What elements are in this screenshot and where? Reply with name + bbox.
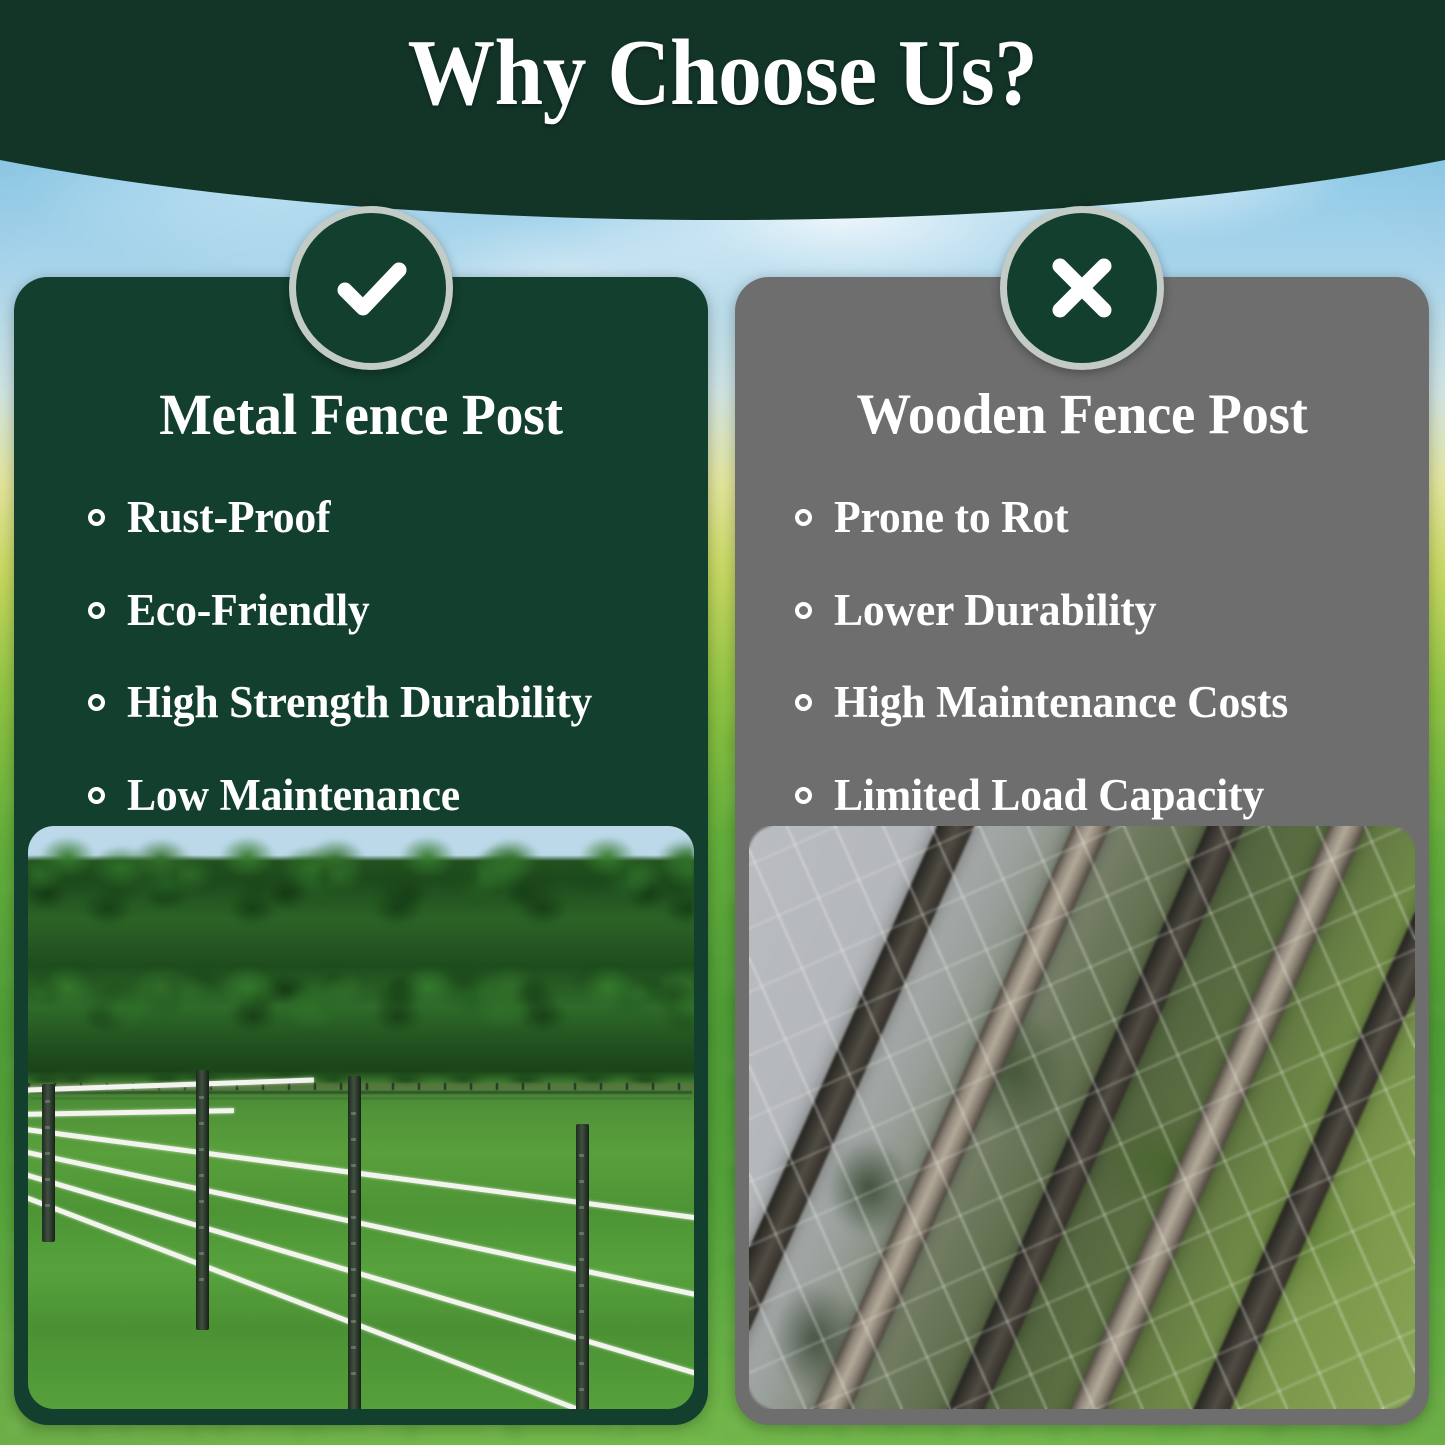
check-badge [289, 206, 453, 370]
circle-bullet-icon [88, 509, 105, 526]
metal-photo-scene [28, 826, 694, 1409]
list-item: Lower Durability [795, 586, 1405, 636]
list-item: High Strength Durability [88, 678, 684, 728]
list-item: Prone to Rot [795, 493, 1405, 543]
metal-post [42, 1084, 55, 1242]
cross-badge [1000, 206, 1164, 370]
list-item: Eco-Friendly [88, 586, 684, 636]
circle-bullet-icon [795, 602, 812, 619]
list-item-label: Low Maintenance [127, 771, 460, 821]
circle-bullet-icon [88, 694, 105, 711]
metal-benefits-list: Rust-Proof Eco-Friendly High Strength Du… [88, 493, 684, 863]
metal-post [348, 1076, 361, 1409]
list-item: Limited Load Capacity [795, 771, 1405, 821]
list-item: Low Maintenance [88, 771, 684, 821]
circle-bullet-icon [795, 694, 812, 711]
metal-post [196, 1070, 209, 1330]
list-item-label: Rust-Proof [127, 493, 330, 543]
list-item: Rust-Proof [88, 493, 684, 543]
metal-fence-post-card: Metal Fence Post Rust-Proof Eco-Friendly… [14, 277, 708, 1425]
circle-bullet-icon [795, 509, 812, 526]
list-item: High Maintenance Costs [795, 678, 1405, 728]
metal-fence-post-photo [28, 826, 694, 1409]
wooden-drawbacks-list: Prone to Rot Lower Durability High Maint… [795, 493, 1405, 863]
list-item-label: Prone to Rot [834, 493, 1068, 543]
wooden-photo-scene [749, 826, 1415, 1409]
check-icon [323, 240, 419, 336]
wooden-fence-post-card: Wooden Fence Post Prone to Rot Lower Dur… [735, 277, 1429, 1425]
wooden-card-title: Wooden Fence Post [749, 385, 1415, 445]
close-icon [1036, 242, 1128, 334]
comparison-cards: Metal Fence Post Rust-Proof Eco-Friendly… [0, 0, 1445, 1445]
list-item-label: Lower Durability [834, 586, 1156, 636]
metal-post [576, 1124, 589, 1409]
comparison-poster: Why Choose Us? Metal Fence Post Rust-Pro… [0, 0, 1445, 1445]
list-item-label: High Maintenance Costs [834, 678, 1288, 728]
list-item-label: Eco-Friendly [127, 586, 370, 636]
photo-blur-overlay [749, 826, 1415, 1409]
circle-bullet-icon [795, 787, 812, 804]
list-item-label: Limited Load Capacity [834, 771, 1264, 821]
circle-bullet-icon [88, 602, 105, 619]
wooden-fence-post-photo [749, 826, 1415, 1409]
list-item-label: High Strength Durability [127, 678, 592, 728]
tree-line [28, 826, 694, 1083]
metal-card-title: Metal Fence Post [28, 385, 694, 446]
circle-bullet-icon [88, 787, 105, 804]
